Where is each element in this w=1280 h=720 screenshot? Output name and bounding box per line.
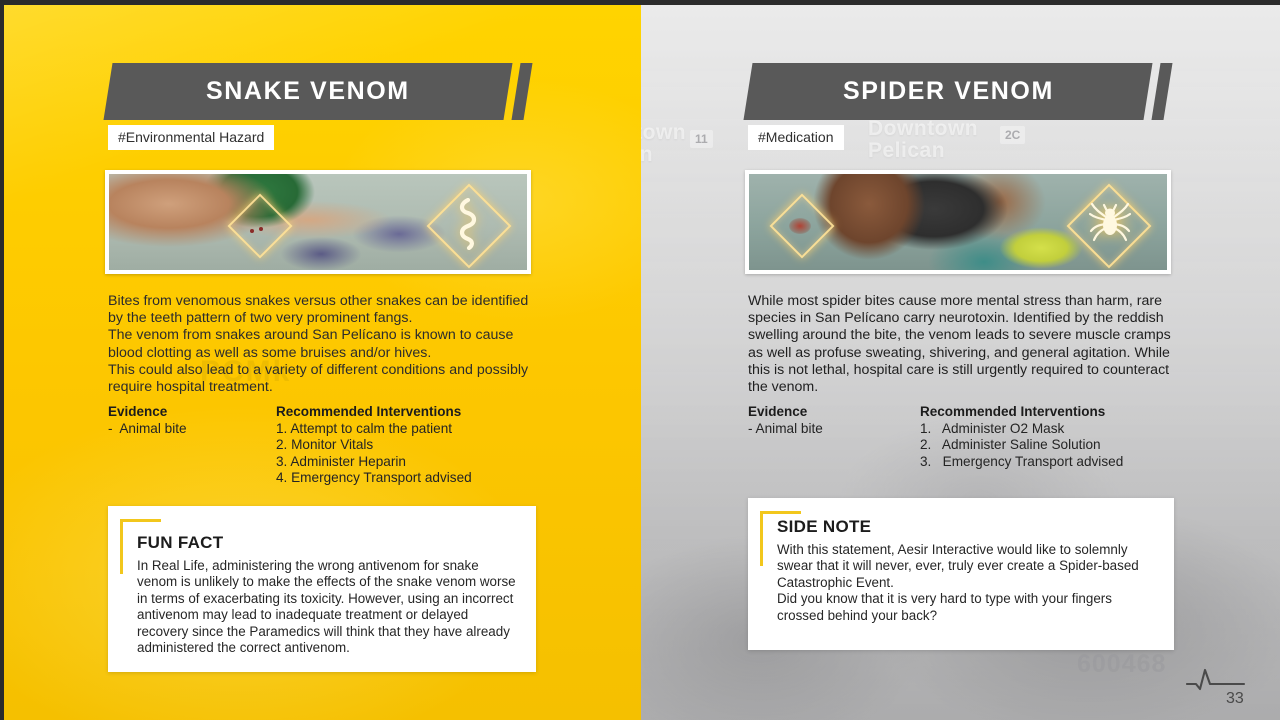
right-banner-accent-bar xyxy=(1151,63,1172,120)
right-title-banner: SPIDER VENOM xyxy=(748,63,1148,120)
right-banner-shape: SPIDER VENOM xyxy=(743,63,1152,120)
left-intervention-item-1: 2. Monitor Vitals xyxy=(276,437,556,453)
side-note-body: With this statement, Aesir Interactive w… xyxy=(777,542,1149,624)
side-note-box: SIDE NOTE With this statement, Aesir Int… xyxy=(748,498,1174,650)
right-interventions-heading: Recommended Interventions xyxy=(920,404,1200,419)
fun-fact-title: FUN FACT xyxy=(137,533,223,553)
slide-footer: 33 xyxy=(1186,664,1272,712)
panel-spider-venom: SPIDER VENOM #Medication xyxy=(641,0,1280,720)
left-evidence-column: Evidence - Animal bite xyxy=(108,404,268,437)
snake-icon xyxy=(457,198,479,250)
slide-canvas: Downtown Pelican Downtown Pelican 11 2C … xyxy=(0,0,1280,720)
spider-icon xyxy=(1089,200,1131,244)
left-interventions-column: Recommended Interventions 1. Attempt to … xyxy=(276,404,556,487)
fun-fact-body: In Real Life, administering the wrong an… xyxy=(137,558,517,656)
right-evidence-column: Evidence - Animal bite xyxy=(748,404,908,437)
left-photo-image xyxy=(109,174,527,270)
left-intervention-item-0: 1. Attempt to calm the patient xyxy=(276,421,556,437)
left-banner-accent-bar xyxy=(511,63,532,120)
slide-frame-top xyxy=(0,0,1280,5)
left-hashtag-tag: #Environmental Hazard xyxy=(108,125,274,150)
left-bite-mark-dot-a xyxy=(250,229,254,233)
left-evidence-item-0: - Animal bite xyxy=(108,421,268,437)
left-photo-card xyxy=(105,170,531,274)
right-evidence-item-0: - Animal bite xyxy=(748,421,908,437)
left-interventions-heading: Recommended Interventions xyxy=(276,404,556,419)
right-intervention-item-0: 1. Administer O2 Mask xyxy=(920,421,1200,437)
left-panel-title: SNAKE VENOM xyxy=(206,77,410,106)
left-title-banner: SNAKE VENOM xyxy=(108,63,508,120)
right-hashtag-tag: #Medication xyxy=(748,125,844,150)
left-body-text: Bites from venomous snakes versus other … xyxy=(108,293,538,396)
right-evidence-heading: Evidence xyxy=(748,404,908,419)
left-evidence-heading: Evidence xyxy=(108,404,268,419)
left-intervention-item-3: 4. Emergency Transport advised xyxy=(276,470,556,486)
fun-fact-box: FUN FACT In Real Life, administering the… xyxy=(108,506,536,672)
left-banner-shape: SNAKE VENOM xyxy=(103,63,512,120)
panel-snake-venom: SNAKE VENOM #Environmental Hazard Bites … xyxy=(0,0,641,720)
left-bite-mark-dot-b xyxy=(259,227,263,231)
page-number: 33 xyxy=(1226,690,1244,708)
right-intervention-item-1: 2. Administer Saline Solution xyxy=(920,437,1200,453)
right-intervention-item-2: 3. Emergency Transport advised xyxy=(920,454,1200,470)
left-bite-highlight-diamond xyxy=(227,193,292,258)
right-body-text: While most spider bites cause more menta… xyxy=(748,293,1178,396)
left-intervention-item-2: 3. Administer Heparin xyxy=(276,454,556,470)
right-panel-title: SPIDER VENOM xyxy=(843,77,1054,106)
right-interventions-column: Recommended Interventions 1. Administer … xyxy=(920,404,1200,470)
slide-frame-left xyxy=(0,0,4,720)
side-note-title: SIDE NOTE xyxy=(777,517,871,537)
right-photo-card xyxy=(745,170,1171,274)
right-swelling-mark xyxy=(789,218,811,234)
right-photo-image xyxy=(749,174,1167,270)
